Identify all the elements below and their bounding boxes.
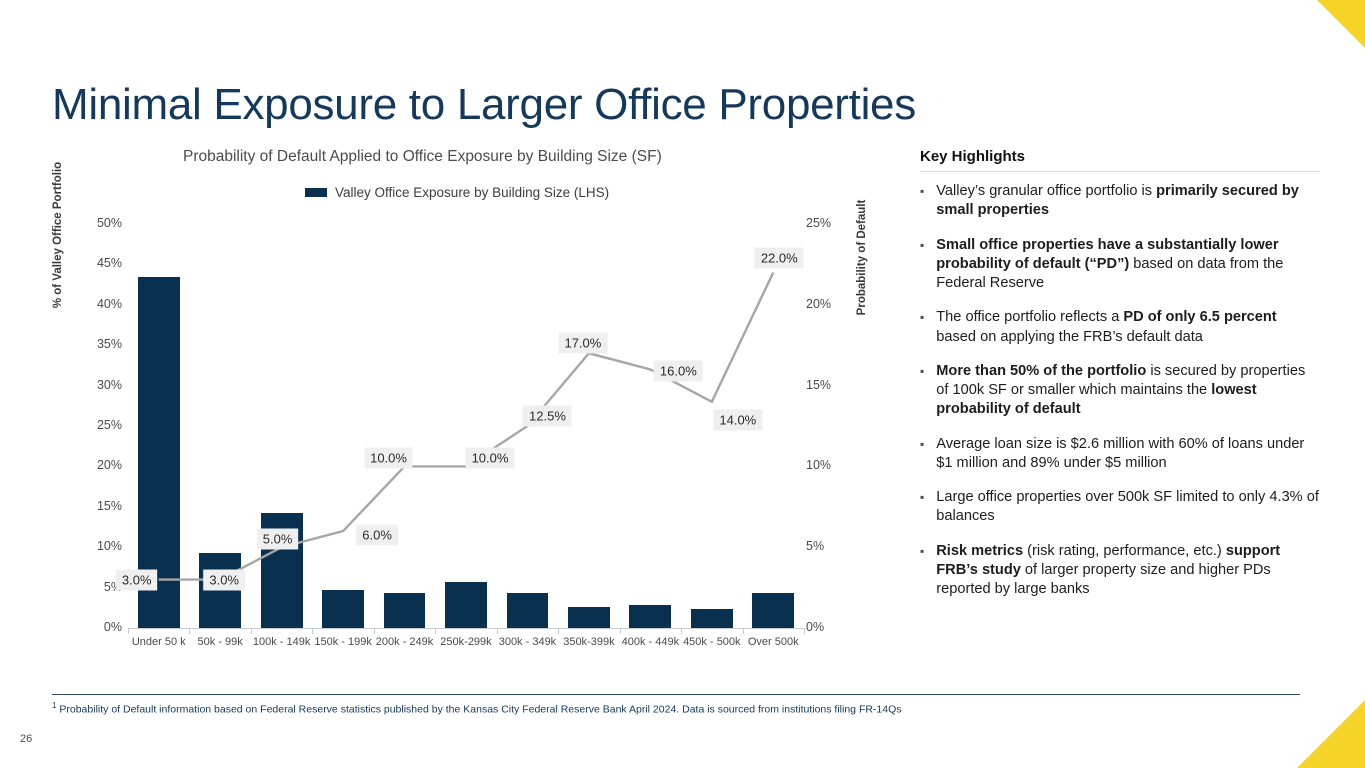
footer-divider	[52, 694, 1300, 695]
x-axis-label: 100k - 149k	[251, 636, 312, 650]
pd-data-label: 22.0%	[755, 248, 804, 269]
y-tick-left: 35%	[76, 337, 122, 351]
key-highlight-text: Small office properties have a substanti…	[936, 236, 1320, 294]
y-tick-left: 25%	[76, 418, 122, 432]
pd-data-label: 16.0%	[654, 361, 703, 382]
y-tick-left: 30%	[76, 378, 122, 392]
key-highlight-text: The office portfolio reflects a PD of on…	[936, 308, 1320, 347]
footnote-text: Probability of Default information based…	[59, 704, 901, 716]
x-axis-label: 350k-399k	[558, 636, 619, 650]
y-tick-left: 40%	[76, 297, 122, 311]
bullet-icon: ▪	[920, 236, 924, 294]
x-axis-label: 400k - 449k	[620, 636, 681, 650]
bullet-icon: ▪	[920, 542, 924, 600]
page-number: 26	[20, 733, 32, 745]
top-right-accent-triangle	[1317, 0, 1365, 48]
pd-data-label: 10.0%	[364, 448, 413, 469]
x-axis-baseline	[128, 628, 804, 629]
bullet-icon: ▪	[920, 182, 924, 221]
key-highlight-text: Average loan size is $2.6 million with 6…	[936, 435, 1320, 474]
key-highlight-text: Valley’s granular office portfolio is pr…	[936, 182, 1320, 221]
pd-data-label: 5.0%	[257, 529, 299, 550]
bullet-icon: ▪	[920, 308, 924, 347]
pd-data-label: 10.0%	[466, 448, 515, 469]
y-tick-left: 0%	[76, 620, 122, 634]
y-axis-title-left: % of Valley Office Portfolio	[52, 140, 64, 330]
y-tick-right: 0%	[806, 620, 852, 634]
key-highlight-item: ▪Small office properties have a substant…	[920, 236, 1320, 294]
pd-line-series	[128, 224, 804, 628]
y-tick-left: 10%	[76, 539, 122, 553]
y-tick-left: 45%	[76, 256, 122, 270]
key-highlight-item: ▪Valley’s granular office portfolio is p…	[920, 182, 1320, 221]
x-axis-label: 250k-299k	[435, 636, 496, 650]
bullet-icon: ▪	[920, 488, 924, 527]
key-highlight-text: Risk metrics (risk rating, performance, …	[936, 542, 1320, 600]
key-highlights-list: ▪Valley’s granular office portfolio is p…	[920, 182, 1320, 599]
key-highlights-divider	[920, 171, 1320, 172]
key-highlight-item: ▪Risk metrics (risk rating, performance,…	[920, 542, 1320, 600]
y-tick-left: 15%	[76, 499, 122, 513]
x-axis-label: 200k - 249k	[374, 636, 435, 650]
key-highlights-panel: Key Highlights ▪Valley’s granular office…	[920, 148, 1320, 614]
y-tick-right: 5%	[806, 539, 852, 553]
y-tick-right: 15%	[806, 378, 852, 392]
pd-data-label: 3.0%	[203, 569, 245, 590]
y-axis-title-right: Probability of Default	[856, 175, 868, 340]
pd-data-label: 14.0%	[713, 409, 762, 430]
key-highlight-text: More than 50% of the portfolio is secure…	[936, 362, 1320, 420]
pd-data-label: 12.5%	[523, 406, 572, 427]
x-axis-labels: Under 50 k50k - 99k100k - 149k150k - 199…	[128, 636, 804, 650]
key-highlight-text: Large office properties over 500k SF lim…	[936, 488, 1320, 527]
x-axis-label: Over 500k	[743, 636, 804, 650]
y-tick-right: 25%	[806, 216, 852, 230]
key-highlight-item: ▪Average loan size is $2.6 million with …	[920, 435, 1320, 474]
x-axis-label: Under 50 k	[128, 636, 189, 650]
x-axis-label: 450k - 500k	[681, 636, 742, 650]
y-tick-right: 10%	[806, 458, 852, 472]
x-axis-label: 300k - 349k	[497, 636, 558, 650]
x-axis-label: 50k - 99k	[189, 636, 250, 650]
footnote: 1 Probability of Default information bas…	[52, 701, 1292, 716]
pd-line-path	[159, 272, 774, 579]
x-axis-label: 150k - 199k	[312, 636, 373, 650]
bullet-icon: ▪	[920, 435, 924, 474]
bullet-icon: ▪	[920, 362, 924, 420]
pd-data-label: 17.0%	[558, 333, 607, 354]
key-highlight-item: ▪More than 50% of the portfolio is secur…	[920, 362, 1320, 420]
chart-plot-area: % of Valley Office Portfolio Probability…	[0, 0, 900, 690]
pd-data-label: 3.0%	[116, 569, 158, 590]
bottom-right-accent-triangle	[1297, 700, 1365, 768]
key-highlight-item: ▪Large office properties over 500k SF li…	[920, 488, 1320, 527]
y-tick-left: 50%	[76, 216, 122, 230]
pd-data-label: 6.0%	[356, 525, 398, 546]
x-tick	[804, 628, 805, 634]
y-tick-left: 20%	[76, 458, 122, 472]
y-tick-right: 20%	[806, 297, 852, 311]
key-highlights-heading: Key Highlights	[920, 148, 1320, 165]
key-highlight-item: ▪The office portfolio reflects a PD of o…	[920, 308, 1320, 347]
footnote-marker: 1	[52, 701, 56, 710]
